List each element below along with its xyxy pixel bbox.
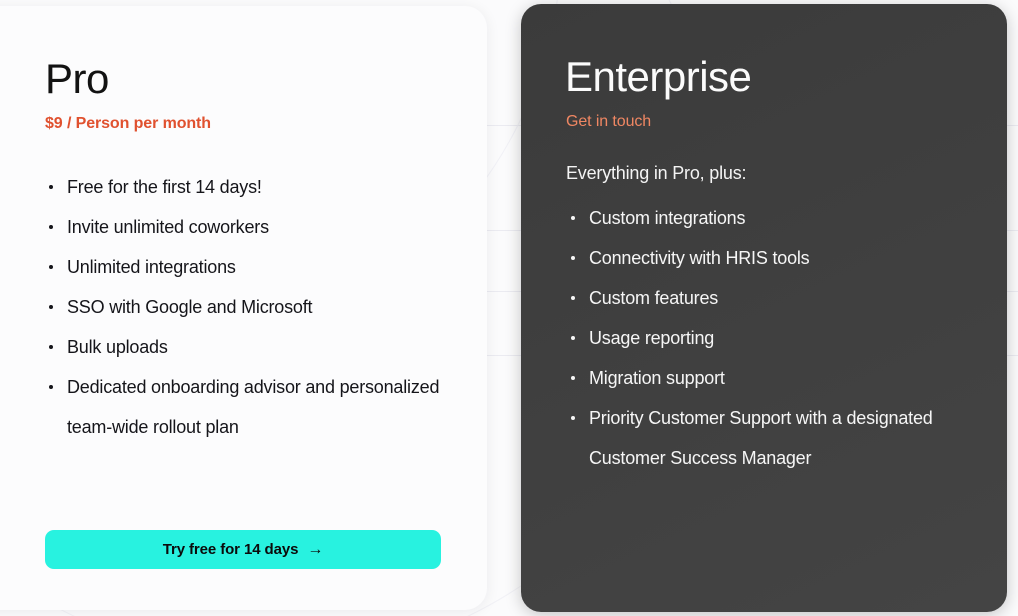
list-item: Migration support bbox=[568, 358, 980, 398]
arrow-right-icon: → bbox=[307, 542, 323, 558]
pricing-card-pro: Pro $9 / Person per month Free for the f… bbox=[0, 6, 487, 610]
list-item: Dedicated onboarding advisor and persona… bbox=[45, 367, 445, 447]
enterprise-feature-list: Custom integrations Connectivity with HR… bbox=[568, 198, 980, 478]
list-item: Priority Customer Support with a designa… bbox=[568, 398, 980, 478]
pro-plan-title: Pro bbox=[45, 54, 109, 104]
enterprise-plan-title: Enterprise bbox=[565, 52, 751, 102]
pro-feature-list: Free for the first 14 days! Invite unlim… bbox=[45, 167, 445, 447]
pro-cta-button[interactable]: Try free for 14 days → bbox=[45, 530, 441, 569]
pro-plan-price: $9 / Person per month bbox=[45, 113, 211, 134]
list-item: Custom integrations bbox=[568, 198, 980, 238]
pricing-section: Pro $9 / Person per month Free for the f… bbox=[0, 0, 1018, 616]
list-item: Usage reporting bbox=[568, 318, 980, 358]
enterprise-feature-lead: Everything in Pro, plus: bbox=[566, 161, 746, 185]
list-item: Connectivity with HRIS tools bbox=[568, 238, 980, 278]
enterprise-plan-subtitle: Get in touch bbox=[566, 111, 651, 132]
list-item: Invite unlimited coworkers bbox=[45, 207, 445, 247]
pro-card-content: Pro $9 / Person per month Free for the f… bbox=[0, 6, 447, 610]
list-item: Custom features bbox=[568, 278, 980, 318]
list-item: Unlimited integrations bbox=[45, 247, 445, 287]
list-item: SSO with Google and Microsoft bbox=[45, 287, 445, 327]
pricing-card-enterprise: Enterprise Get in touch Everything in Pr… bbox=[521, 4, 1007, 612]
pro-cta-label: Try free for 14 days bbox=[163, 541, 299, 558]
list-item: Free for the first 14 days! bbox=[45, 167, 445, 207]
list-item: Bulk uploads bbox=[45, 327, 445, 367]
